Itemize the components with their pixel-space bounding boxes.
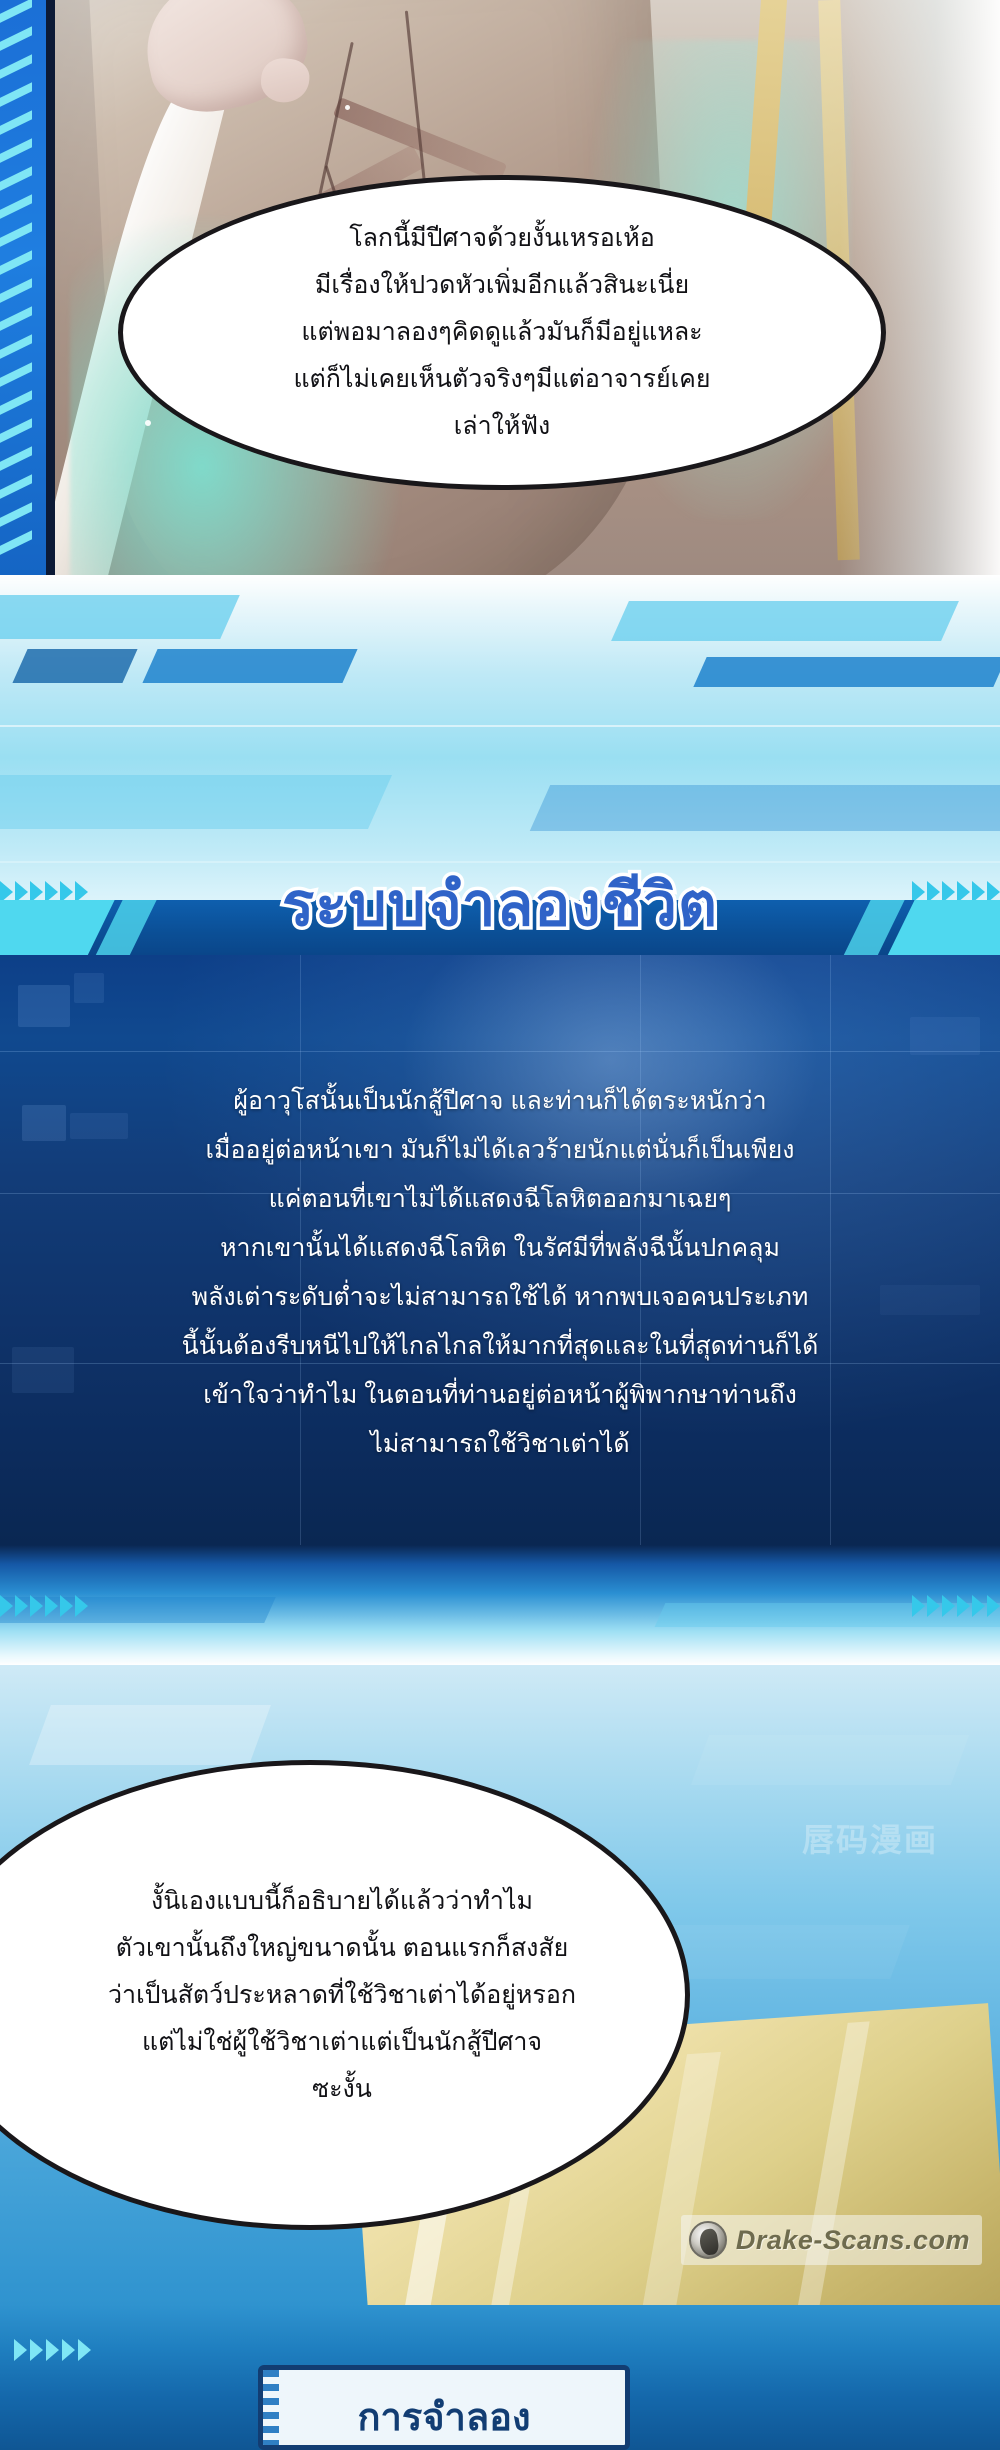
tech-slab [0, 595, 240, 639]
narration-line: พลังเต่าระดับต่ำจะไม่สามารถใช้ได้ หากพบเ… [62, 1273, 938, 1322]
left-blue-stripe [0, 0, 46, 575]
deco-block [691, 1735, 969, 1785]
page-title: ระบบจำลองชีวิต [0, 866, 1000, 944]
grid-line [0, 725, 1000, 727]
grid-line [0, 1051, 1000, 1052]
bubble-line: เล่าให้ฟัง [293, 403, 710, 450]
speech-bubble-top: โลกนี้มีปีศาจด้วยงั้นเหรอเห้อ มีเรื่องให… [118, 175, 886, 490]
tech-slab [12, 649, 137, 683]
narration-line: หากเขานั้นได้แสดงฉีโลหิต ในรัศมีที่พลังฉ… [62, 1224, 938, 1273]
narration-line: ผู้อาวุโสนั้นเป็นนักสู้ปีศาจ และท่านก็ได… [62, 1077, 938, 1126]
speech-bubble-bottom-text: งั้นิเองแบบนี้ก็อธิบายได้แล้วว่าทำไม ตัว… [94, 1878, 590, 2113]
system-window-title: การจำลอง [263, 2386, 625, 2447]
bubble-line: แต่ไม่ใช่ผู้ใช้วิชาเต่าแต่เป็นนักสู้ปีศา… [108, 2019, 576, 2066]
narration-line: เมื่ออยู่ต่อหน้าเขา มันก็ไม่ได้เลวร้ายนั… [62, 1126, 938, 1175]
narration-line: เข้าใจว่าทำไม ในตอนที่ท่านอยู่ต่อหน้าผู้… [62, 1371, 938, 1420]
tech-slab [655, 1603, 1000, 1627]
tech-slab [0, 775, 392, 829]
bubble-line: โลกนี้มีปีศาจด้วยงั้นเหรอเห้อ [293, 215, 710, 262]
bubble-line: แต่ก็ไม่เคยเห็นตัวจริงๆมีแต่อาจารย์เคย [293, 356, 710, 403]
tech-band-lower [0, 1545, 1000, 1665]
panel-divider [46, 0, 55, 575]
deco-block [18, 985, 70, 1027]
narration-line: นี้นั้นต้องรีบหนีไปให้ไกลไกลให้มากที่สุด… [62, 1322, 938, 1371]
dragon-logo-icon [689, 2221, 727, 2259]
bubble-line: ตัวเขานั้นถึงใหญ่ขนาดนั้น ตอนแรกก็สงสัย [108, 1925, 576, 1972]
narration-text: ผู้อาวุโสนั้นเป็นนักสู้ปีศาจ และท่านก็ได… [0, 1077, 1000, 1469]
deco-block [29, 1705, 271, 1765]
narration-line: ไม่สามารถใช้วิชาเต่าได้ [62, 1420, 938, 1469]
system-window[interactable]: การจำลอง [258, 2365, 630, 2450]
tech-slab [142, 649, 357, 683]
cjk-watermark: 唇码漫画 [802, 1815, 938, 1861]
narration-panel: ผู้อาวุโสนั้นเป็นนักสู้ปีศาจ และท่านก็ได… [0, 955, 1000, 1545]
chevron-group-bottom [14, 2339, 91, 2361]
speech-bubble-top-text: โลกนี้มีปีศาจด้วยงั้นเหรอเห้อ มีเรื่องให… [279, 215, 724, 450]
narration-line: แค่ตอนที่เขาไม่ได้แสดงฉีโลหิตออกมาเฉยๆ [62, 1175, 938, 1224]
bubble-line: ว่าเป็นสัตว์ประหลาดที่ใช้วิชาเต่าได้อยู่… [108, 1972, 576, 2019]
deco-block [910, 1017, 980, 1055]
tech-slab [611, 601, 959, 641]
watermark-text: Drake-Scans.com [736, 2225, 970, 2256]
tech-slab [530, 785, 1000, 831]
bubble-line: มีเรื่องให้ปวดหัวเพิ่มอีกแล้วสินะเนี่ย [293, 262, 710, 309]
tech-slab [693, 657, 1000, 687]
tech-slab [0, 1597, 276, 1623]
title-banner: ระบบจำลองชีวิต [0, 900, 1000, 960]
deco-block [74, 973, 104, 1003]
spark [145, 420, 151, 426]
grid-line [0, 861, 1000, 863]
site-watermark: Drake-Scans.com [681, 2215, 982, 2265]
bubble-line: งั้นิเองแบบนี้ก็อธิบายได้แล้วว่าทำไม [108, 1878, 576, 1925]
bubble-line: ซะงั้น [108, 2066, 576, 2113]
bubble-line: แต่พอมาลองๆคิดดูแล้วมันก็มีอยู่แหละ [293, 309, 710, 356]
spark [345, 105, 350, 110]
webtoon-page: โลกนี้มีปีศาจด้วยงั้นเหรอเห้อ มีเรื่องให… [0, 0, 1000, 2450]
